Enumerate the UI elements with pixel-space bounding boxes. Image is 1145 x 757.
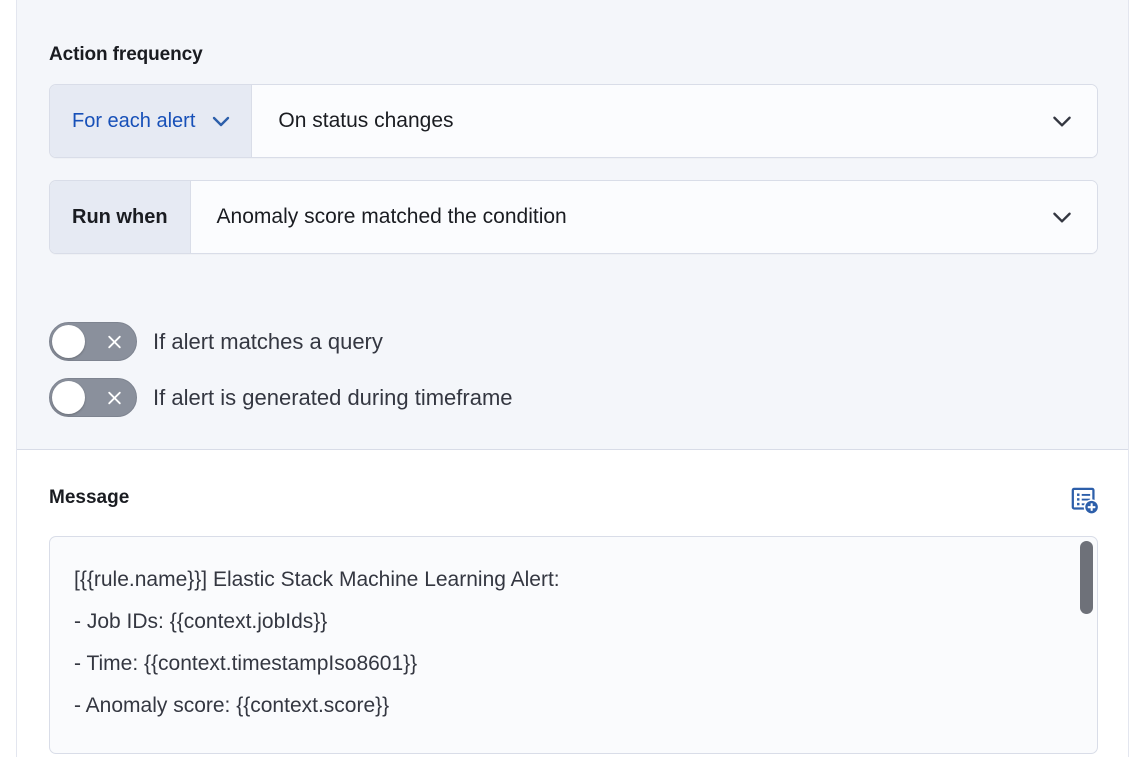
message-section: Message [17,450,1128,757]
run-when-select[interactable]: Anomaly score matched the condition [191,181,1097,253]
close-x-icon [106,389,123,406]
toggle-knob [52,381,85,414]
alert-timeframe-toggle[interactable] [49,378,137,417]
alert-timeframe-toggle-row: If alert is generated during timeframe [49,378,513,417]
alert-timeframe-toggle-label: If alert is generated during timeframe [153,385,513,411]
chevron-down-icon [1049,108,1075,134]
message-textarea-wrap: [{{rule.name}}] Elastic Stack Machine Le… [49,536,1098,754]
add-variable-icon [1070,486,1100,516]
alert-query-toggle-label: If alert matches a query [153,329,383,355]
message-textarea[interactable]: [{{rule.name}}] Elastic Stack Machine Le… [50,537,1097,753]
chevron-down-icon [209,109,233,133]
toggle-knob [52,325,85,358]
action-frequency-title: Action frequency [49,44,203,66]
add-variable-button[interactable] [1068,484,1102,518]
action-frequency-row: For each alert On status changes [49,84,1098,158]
status-change-selected-value: On status changes [278,109,453,133]
run-when-label-group: Run when [50,181,191,253]
run-when-row: Run when Anomaly score matched the condi… [49,180,1098,254]
settings-panel: Action frequency For each alert On statu… [16,0,1129,757]
chevron-down-icon [1049,204,1075,230]
run-when-selected-value: Anomaly score matched the condition [217,205,567,229]
alert-query-toggle[interactable] [49,322,137,361]
for-each-alert-button[interactable]: For each alert [50,85,252,157]
for-each-alert-label: For each alert [72,110,195,133]
action-frequency-section: Action frequency For each alert On statu… [17,0,1128,450]
screenshot-root: Action frequency For each alert On statu… [0,0,1145,757]
message-title: Message [49,487,129,509]
status-change-select[interactable]: On status changes [252,85,1097,157]
message-scrollbar[interactable] [1080,541,1093,749]
close-x-icon [106,333,123,350]
run-when-label: Run when [72,206,168,229]
alert-query-toggle-row: If alert matches a query [49,322,383,361]
message-scrollbar-thumb[interactable] [1080,541,1093,614]
